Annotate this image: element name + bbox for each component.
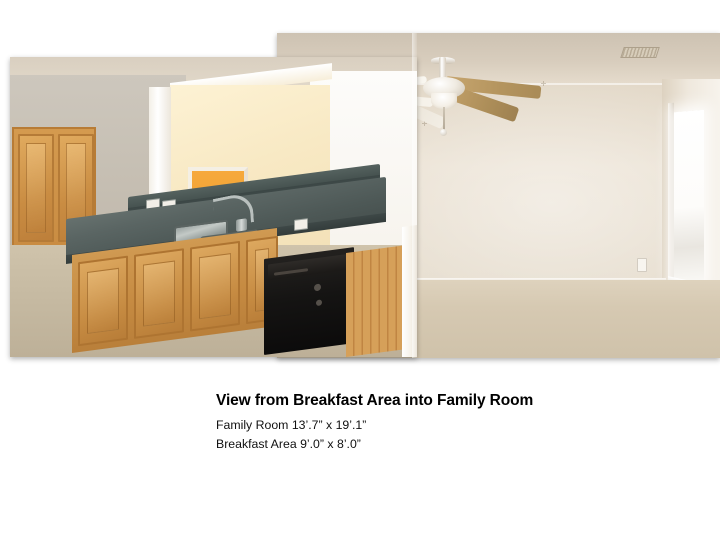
- cabinet-door: [18, 134, 54, 242]
- island-outlet-icon: [294, 218, 308, 231]
- cabinet-door: [190, 241, 240, 332]
- kitchen-island: [66, 197, 406, 357]
- cabinet-door: [134, 248, 184, 339]
- dishwasher-handle: [274, 268, 308, 275]
- faucet-base: [236, 218, 247, 231]
- breakfast-area-dimensions: Breakfast Area 9’.0” x 8’.0”: [216, 435, 686, 454]
- family-room-dimensions: Family Room 13’.7” x 19’.1”: [216, 416, 686, 435]
- dishwasher-appliance: [264, 247, 354, 355]
- fan-downrod: [439, 57, 446, 79]
- dishwasher-control-panel: [268, 254, 350, 281]
- kitchen-breakfast-photo-panel: [10, 57, 417, 357]
- fan-pull-chain-ball: [440, 129, 447, 136]
- cabinet-door: [78, 256, 128, 347]
- wall-outlet-icon: [637, 258, 647, 272]
- dishwasher-dial: [316, 299, 322, 306]
- caption-block: View from Breakfast Area into Family Roo…: [216, 392, 686, 454]
- family-room-window: [674, 110, 704, 288]
- page-title: View from Breakfast Area into Family Roo…: [216, 392, 686, 409]
- wall-mark: [541, 81, 546, 86]
- interior-photo-composite: [0, 0, 720, 380]
- island-support-column: [402, 225, 417, 357]
- air-vent-icon: [620, 47, 660, 58]
- island-end-panel: [346, 245, 406, 357]
- fan-pull-chain: [443, 107, 445, 131]
- dishwasher-dial: [314, 283, 321, 291]
